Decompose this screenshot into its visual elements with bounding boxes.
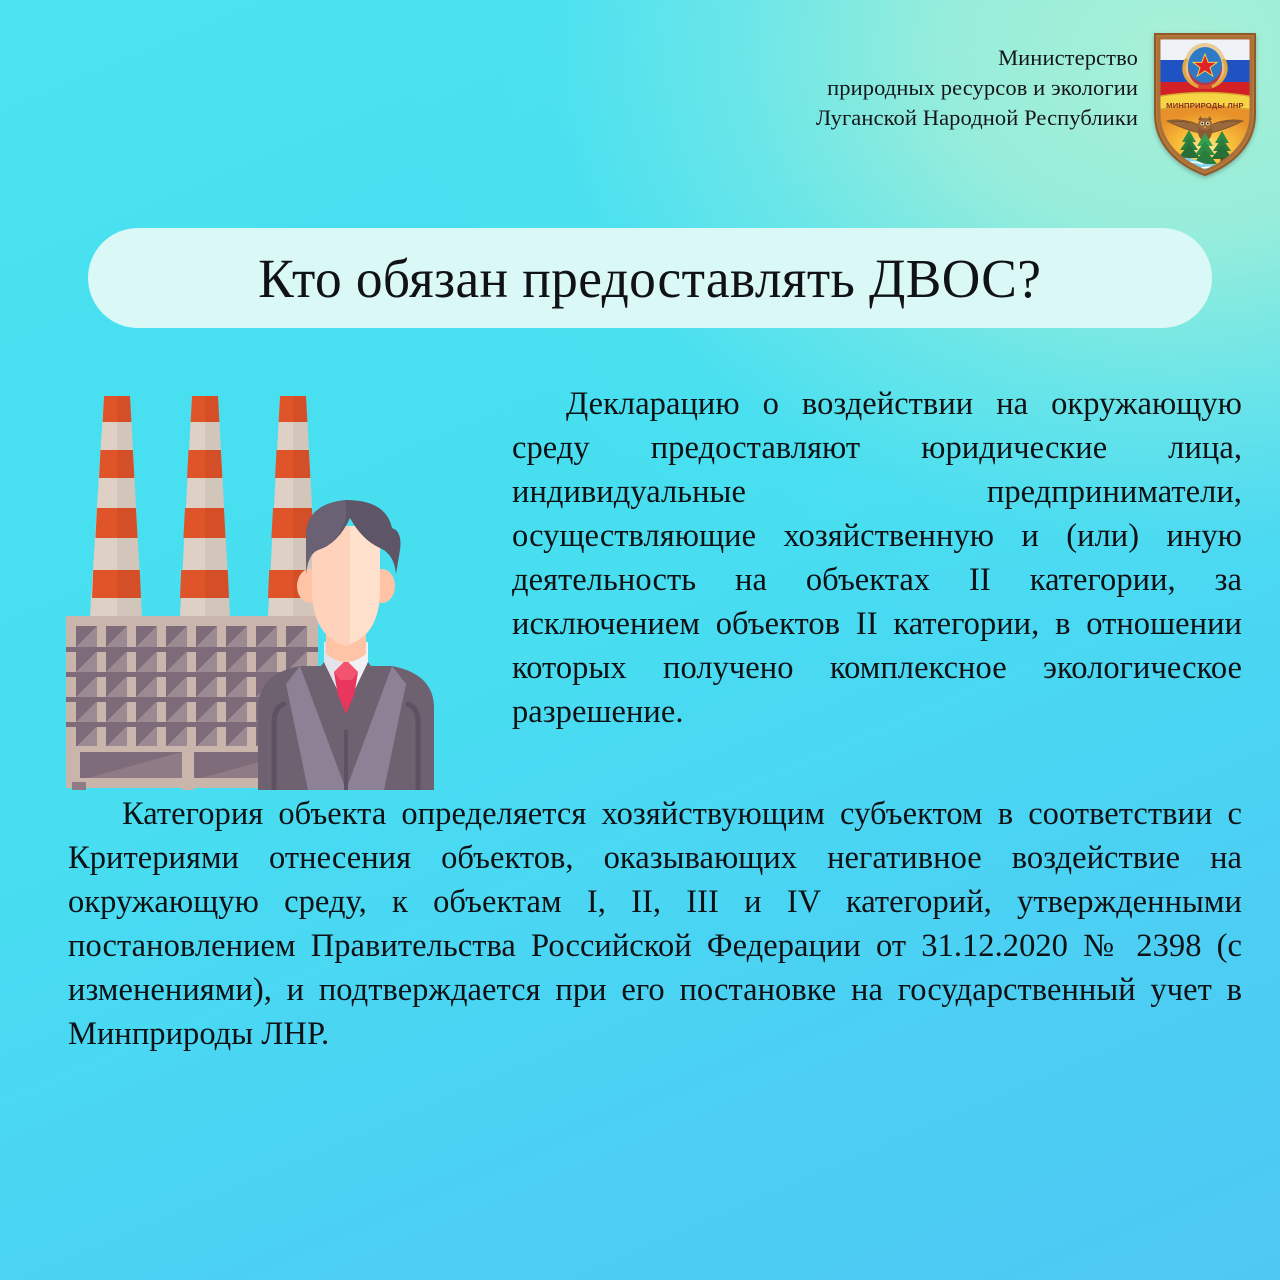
factory-businessman-illustration — [62, 378, 492, 790]
header: Министерство природных ресурсов и эколог… — [816, 30, 1258, 176]
smokestack — [90, 396, 142, 616]
page-title: Кто обязан предоставлять ДВОС? — [258, 247, 1041, 310]
title-banner: Кто обязан предоставлять ДВОС? — [88, 228, 1212, 328]
ministry-line-3: Луганской Народной Республики — [816, 103, 1138, 133]
minprirody-lnr-emblem-icon: МИНПРИРОДЫ ЛНР — [1152, 30, 1258, 176]
paragraph-two: Категория объекта определяется хозяйству… — [68, 792, 1242, 1056]
ministry-line-1: Министерство — [816, 43, 1138, 73]
ministry-line-2: природных ресурсов и экологии — [816, 73, 1138, 103]
infographic-poster: Министерство природных ресурсов и эколог… — [0, 0, 1280, 1280]
smokestack — [180, 396, 230, 616]
ministry-title: Министерство природных ресурсов и эколог… — [816, 30, 1138, 133]
emblem-banner-text: МИНПРИРОДЫ ЛНР — [1166, 101, 1244, 110]
paragraph-one: Декларацию о воздействии на окружающую с… — [512, 382, 1242, 734]
